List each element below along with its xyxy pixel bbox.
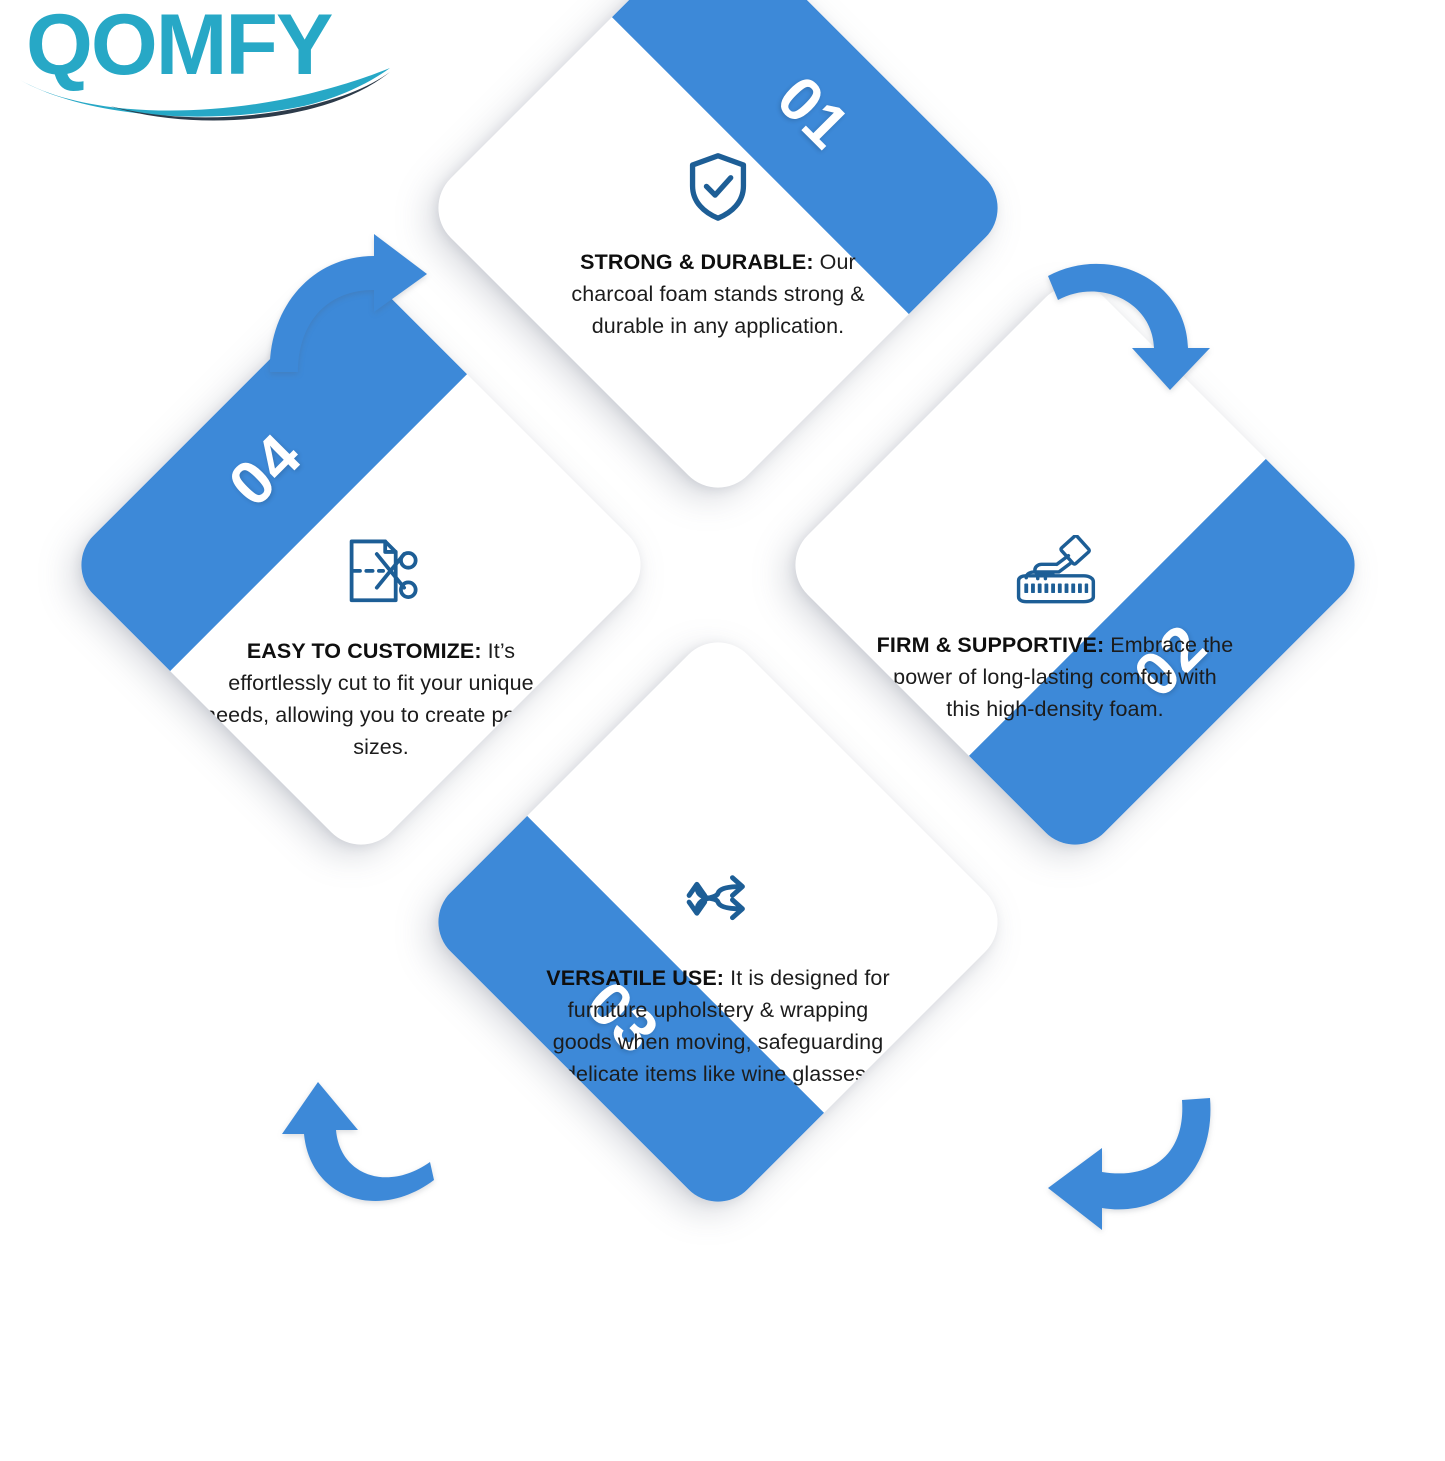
arrow-bottom-right-icon xyxy=(1038,1096,1218,1246)
card-02-heading: FIRM & SUPPORTIVE: xyxy=(877,633,1105,657)
card-01-text: STRONG & DURABLE: Our charcoal foam stan… xyxy=(538,246,898,342)
scissors-cut-paper-icon xyxy=(201,535,561,613)
shield-check-icon xyxy=(538,150,898,224)
card-01-content: STRONG & DURABLE: Our charcoal foam stan… xyxy=(538,150,898,342)
infographic-canvas: QOMFY 01 STRONG & DURABLE: Our charcoal … xyxy=(0,0,1445,1461)
card-04-heading: EASY TO CUSTOMIZE: xyxy=(247,639,482,663)
hand-pressing-foam-icon xyxy=(875,535,1235,607)
card-03-text: VERSATILE USE: It is designed for furnit… xyxy=(538,962,898,1090)
arrow-top-left-icon xyxy=(262,230,432,375)
card-02-text: FIRM & SUPPORTIVE: Embrace the power of … xyxy=(875,629,1235,725)
brand-logo-text: QOMFY xyxy=(26,2,332,93)
shuffle-arrows-icon xyxy=(538,862,898,940)
card-02-content: FIRM & SUPPORTIVE: Embrace the power of … xyxy=(875,535,1235,725)
arrow-bottom-left-icon xyxy=(258,1076,438,1241)
card-03-heading: VERSATILE USE: xyxy=(546,966,724,990)
card-04-text: EASY TO CUSTOMIZE: It’s effortlessly cut… xyxy=(201,635,561,763)
card-03-content: VERSATILE USE: It is designed for furnit… xyxy=(538,862,898,1090)
card-04-content: EASY TO CUSTOMIZE: It’s effortlessly cut… xyxy=(201,535,561,763)
arrow-top-right-icon xyxy=(1046,238,1216,393)
feature-card-03[interactable]: 03 VERSATILE USE: It is designed for fur… xyxy=(421,625,1015,1219)
brand-logo: QOMFY xyxy=(18,2,398,122)
card-01-heading: STRONG & DURABLE: xyxy=(580,250,813,274)
